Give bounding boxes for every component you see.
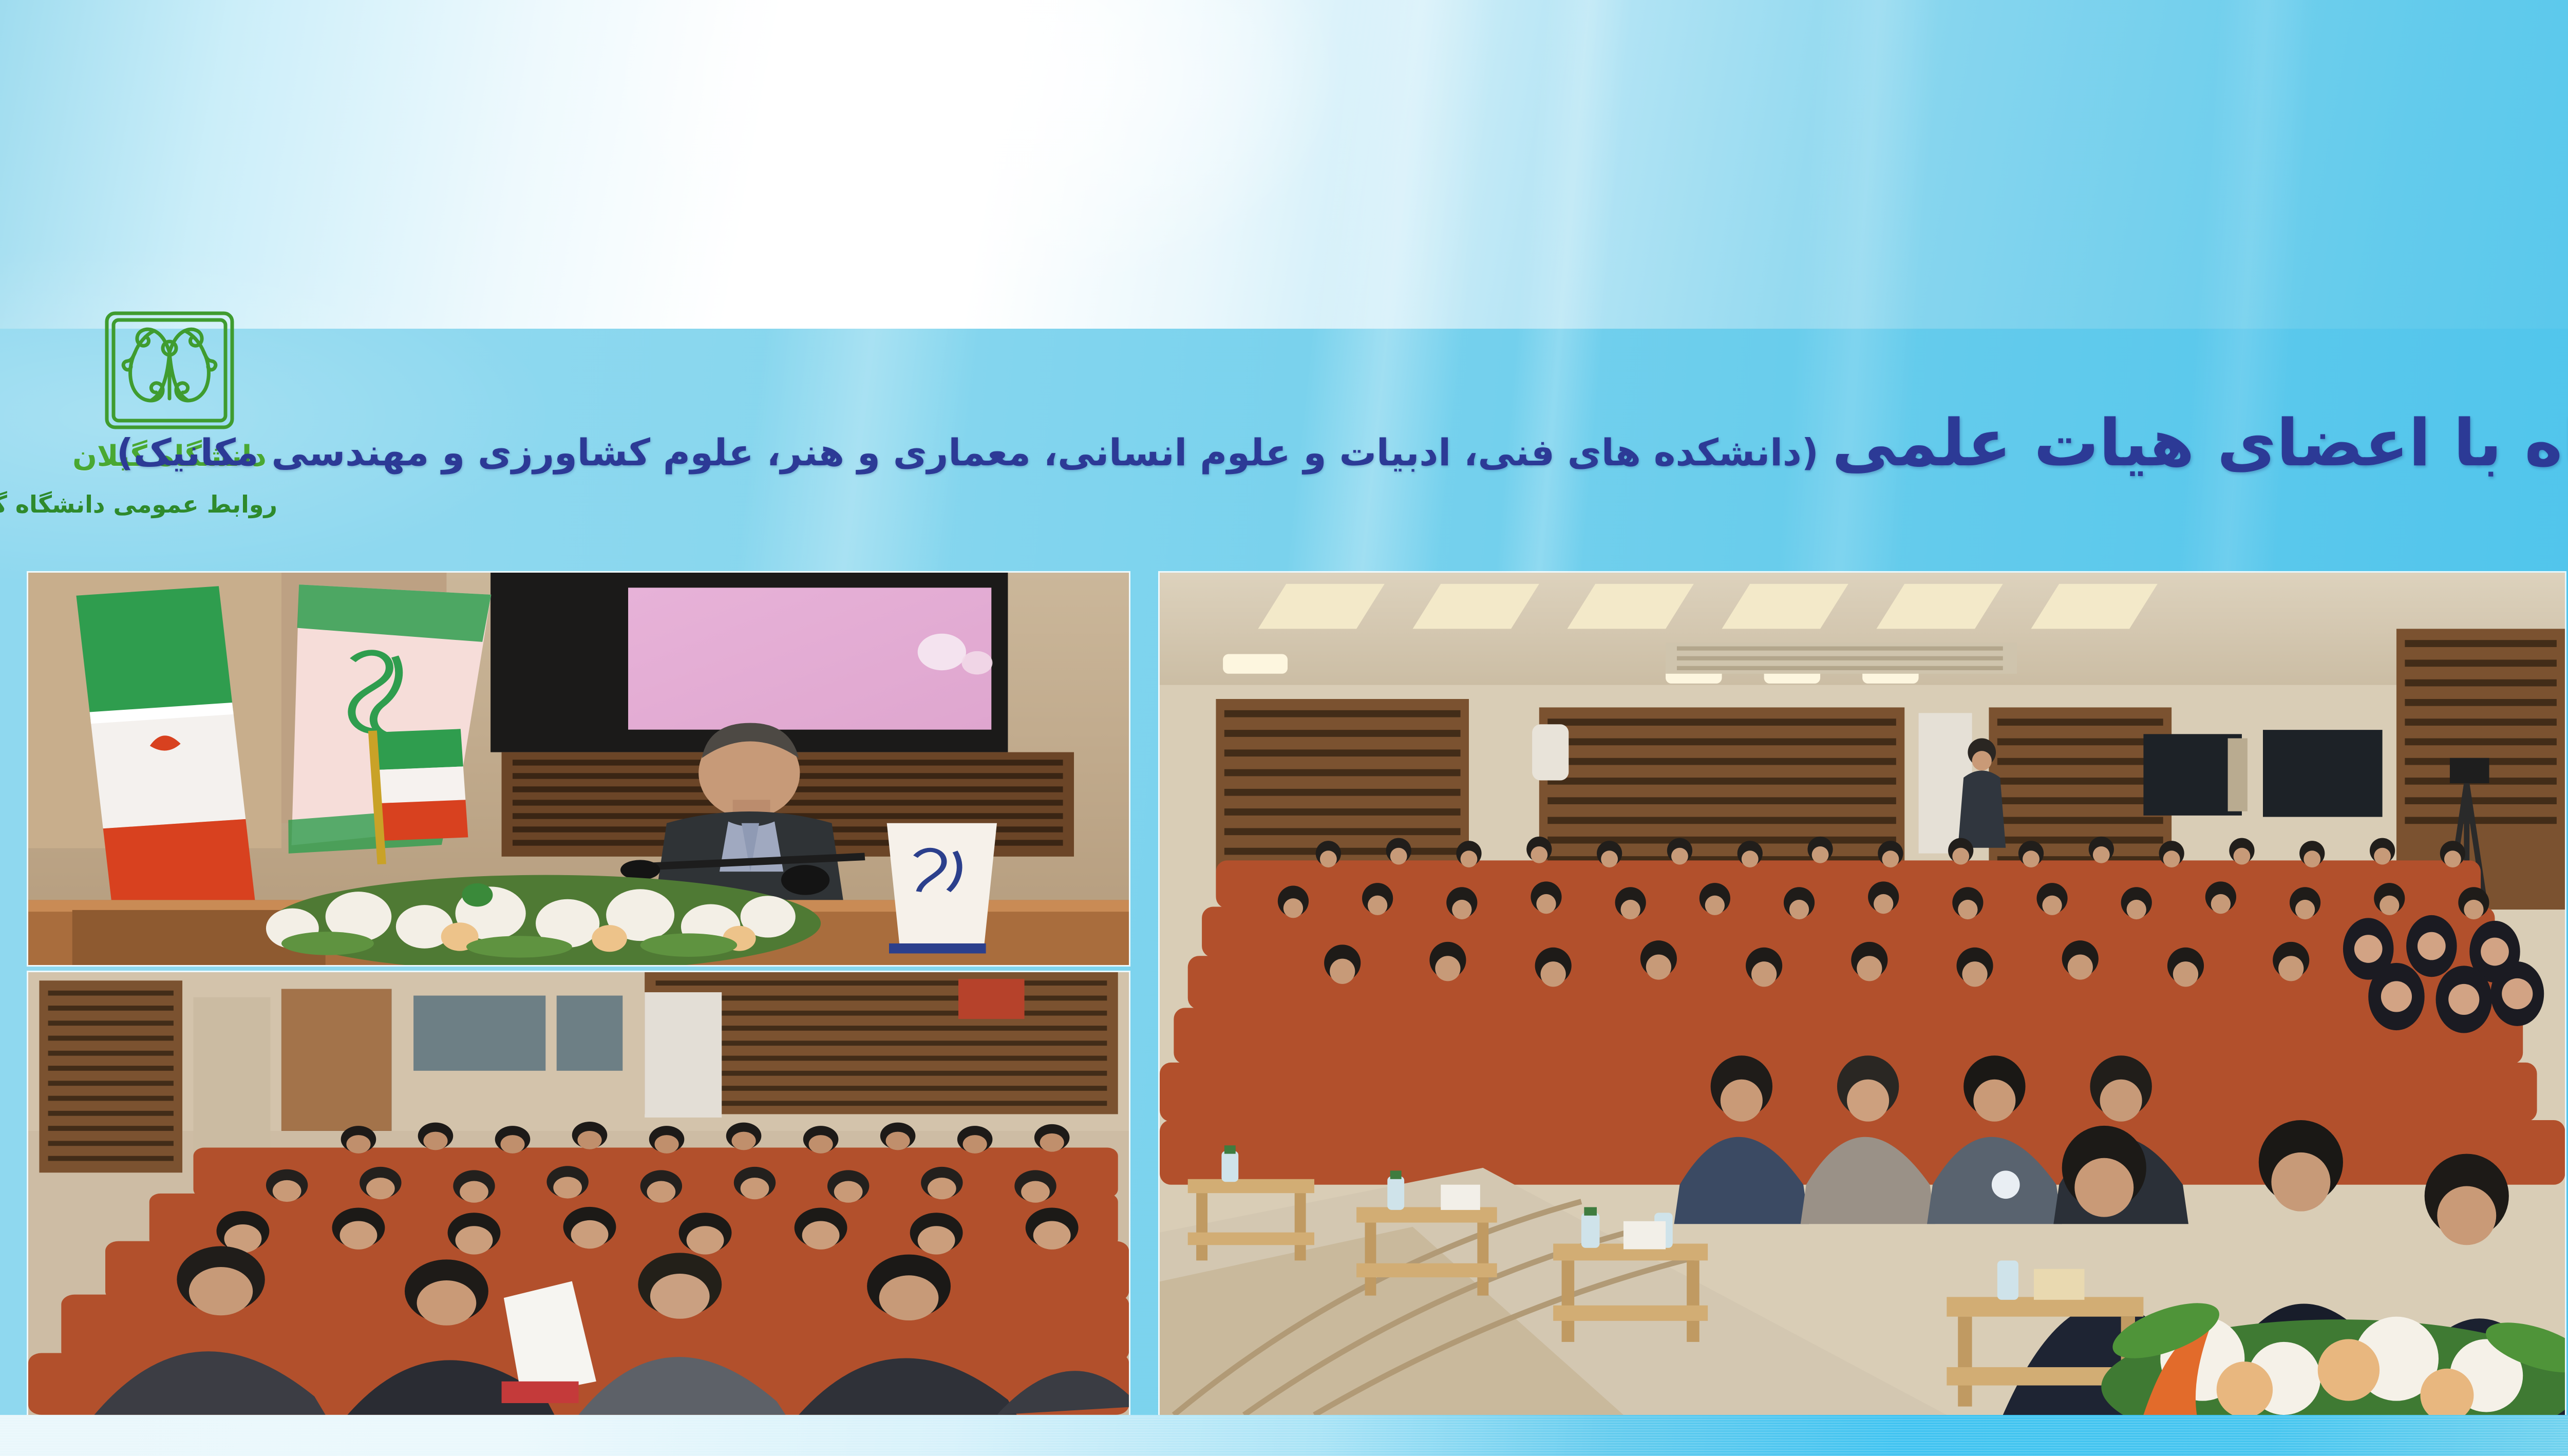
photo-audience-left-rows [28, 972, 1129, 1415]
title-parenthetical-text: (دانشکده های فنی، ادبیات و علوم انسانی، … [117, 434, 1819, 471]
university-of-guilan-emblem-icon [101, 308, 238, 438]
title-main-text: نشست هم اندیشی رئیس دانشگاه با اعضای هیا… [1832, 411, 2568, 476]
university-logo-block: دانشگاه گیلان روابط عمومی دانشگاه گیلان [62, 308, 277, 518]
photo-speaker-podium [28, 573, 1129, 965]
event-banner: دانشگاه گیلان روابط عمومی دانشگاه گیلان … [0, 0, 2568, 1456]
photo-hall-wide [1160, 573, 2565, 1415]
photo-column-left [28, 573, 1129, 1415]
public-relations-caption: روابط عمومی دانشگاه گیلان [62, 490, 277, 518]
background-highlight-glow [591, 0, 1361, 308]
photo-grid [28, 573, 2568, 1415]
banner-title: نشست هم اندیشی رئیس دانشگاه با اعضای هیا… [565, 411, 2568, 476]
photo-column-middle [1160, 573, 2565, 1415]
footer-band [0, 1415, 2568, 1456]
